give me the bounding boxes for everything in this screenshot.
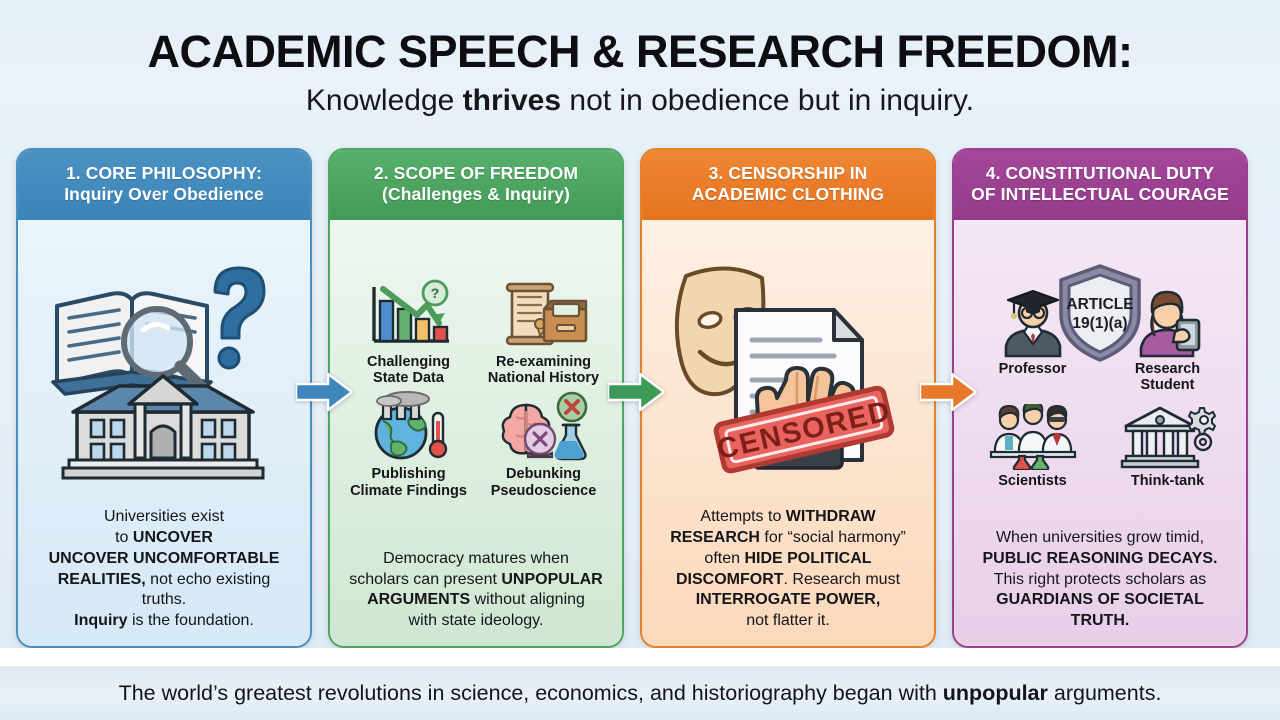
panel-4-line-1: When universities grow timid, xyxy=(966,528,1234,549)
footer-emphasis: unpopular xyxy=(943,681,1048,705)
grid-caption: Re-examining National History xyxy=(488,354,599,388)
caption-line2: State Data xyxy=(367,370,450,387)
footer-text: The world’s greatest revolutions in scie… xyxy=(119,681,1162,706)
panel-1-line-2-bold: UNCOVER xyxy=(133,529,213,546)
panel-1-header: 1. CORE PHILOSOPHY: Inquiry Over Obedien… xyxy=(18,150,310,220)
globe-thermometer-icon xyxy=(361,391,457,463)
caption-line2: Pseudoscience xyxy=(491,483,597,500)
panel-2-title-line1: 2. SCOPE OF FREEDOM xyxy=(338,163,614,184)
panel-1-line-6-tail: is the foundation. xyxy=(128,612,254,629)
panel-3-line-4: DISCOMFORT. Research must xyxy=(654,570,922,591)
panel-censorship[interactable]: 3. CENSORSHIP IN ACADEMIC CLOTHING xyxy=(640,148,936,648)
scroll-archive-box-icon xyxy=(496,279,592,351)
panel-1-line-2: to UNCOVER xyxy=(30,528,298,549)
panel-3-header: 3. CENSORSHIP IN ACADEMIC CLOTHING xyxy=(642,150,934,220)
panel-1-line-2-pre: to xyxy=(115,529,133,546)
panel-2-line-2-pre: scholars can present xyxy=(349,571,501,588)
panel-4-line-4-bold: GUARDIANS OF SOCIETAL xyxy=(996,591,1204,608)
panel-3-line-2-tail: for “social harmony” xyxy=(760,529,906,546)
panel-4-line-3: This right protects scholars as xyxy=(966,570,1234,591)
panel-1-line-5: truths. xyxy=(30,590,298,611)
panel-4-text: When universities grow timid, PUBLIC REA… xyxy=(966,528,1234,632)
panel-1-line-6-bold: Inquiry xyxy=(74,612,127,629)
grid-item-re-examining-national-history[interactable]: Re-examining National History xyxy=(477,279,610,388)
panel-1-title-line2: Inquiry Over Obedience xyxy=(26,184,302,205)
mask-document-hand-censored-illustration: CENSORED xyxy=(658,248,918,488)
article-shield-badge: ARTICLE 19(1)(a) xyxy=(1055,262,1145,369)
panel-2-line-2: scholars can present UNPOPULAR xyxy=(342,570,610,591)
grid-caption: Challenging State Data xyxy=(367,354,450,388)
panel-2-text: Democracy matures when scholars can pres… xyxy=(342,549,610,632)
panel-4-body: ARTICLE 19(1)(a) xyxy=(954,220,1246,646)
caption-line1: Scientists xyxy=(998,473,1067,490)
panel-1-line-1: Universities exist xyxy=(30,507,298,528)
question-mark-icon xyxy=(215,268,264,368)
panel-4-header: 4. CONSTITUTIONAL DUTY OF INTELLECTUAL C… xyxy=(954,150,1246,220)
caption-line1: Re-examining xyxy=(488,354,599,371)
panel-4-line-5: TRUTH. xyxy=(966,611,1234,632)
panel-2-title-line2: (Challenges & Inquiry) xyxy=(338,184,614,205)
panel-2-illustration: ? Challenging State Data xyxy=(342,230,610,549)
panel-3-body: CENSORED Attempts to WITHDRAW RESEARCH f… xyxy=(642,220,934,646)
caption-line2: National History xyxy=(488,370,599,387)
white-separator-band xyxy=(0,648,1280,666)
footer-post: arguments. xyxy=(1048,681,1162,705)
arrow-connector-2 xyxy=(608,372,664,412)
panel-4-title-line1: 4. CONSTITUTIONAL DUTY xyxy=(962,163,1238,184)
smokestacks xyxy=(377,392,429,419)
panel-1-line-3-bold: UNCOVER UNCOMFORTABLE xyxy=(49,550,280,567)
grid-caption: Publishing Climate Findings xyxy=(350,466,467,500)
grid-item-challenging-state-data[interactable]: ? Challenging State Data xyxy=(342,279,475,388)
panel-3-line-2: RESEARCH for “social harmony” xyxy=(654,528,922,549)
panel-2-line-3-bold: ARGUMENTS xyxy=(367,591,470,608)
panel-1-line-4-tail: not echo existing xyxy=(146,571,271,588)
panel-2-body: ? Challenging State Data xyxy=(330,220,622,646)
grid-caption: Scientists xyxy=(998,473,1067,490)
panel-3-illustration: CENSORED xyxy=(654,230,922,508)
subtitle-post: not in obedience but in inquiry. xyxy=(561,84,974,117)
page-title: ACADEMIC SPEECH & RESEARCH FREEDOM: xyxy=(147,28,1132,75)
page-header: ACADEMIC SPEECH & RESEARCH FREEDOM: Know… xyxy=(0,0,1280,140)
panel-2-line-3: ARGUMENTS without aligning xyxy=(342,590,610,611)
panel-3-line-5: INTERROGATE POWER, xyxy=(654,590,922,611)
panel-3-title-line1: 3. CENSORSHIP IN xyxy=(650,163,926,184)
caption-line1: Debunking xyxy=(491,466,597,483)
panel-3-line-4-bold: DISCOMFORT xyxy=(676,571,784,588)
panel-1-line-6: Inquiry is the foundation. xyxy=(30,611,298,632)
panel-3-line-3-bold: HIDE POLITICAL xyxy=(744,550,871,567)
panel-3-line-1-pre: Attempts to xyxy=(700,508,785,525)
caption-line1: Publishing xyxy=(350,466,467,483)
panel-2-icon-grid: ? Challenging State Data xyxy=(342,279,610,500)
panel-constitutional-duty[interactable]: 4. CONSTITUTIONAL DUTY OF INTELLECTUAL C… xyxy=(952,148,1248,648)
caption-line2: Climate Findings xyxy=(350,483,467,500)
panel-3-line-1-bold: WITHDRAW xyxy=(786,508,876,525)
panel-1-text: Universities exist to UNCOVER UNCOVER UN… xyxy=(30,507,298,632)
panel-2-line-4: with state ideology. xyxy=(342,611,610,632)
bar-chart-declining-icon: ? xyxy=(361,279,457,351)
caption-line2: Student xyxy=(1135,377,1200,394)
arrow-connector-1 xyxy=(296,372,352,412)
grid-item-debunking-pseudoscience[interactable]: Debunking Pseudoscience xyxy=(477,391,610,500)
panel-4-line-4: GUARDIANS OF SOCIETAL xyxy=(966,590,1234,611)
panel-4-line-5-bold: TRUTH. xyxy=(1071,612,1130,629)
panel-3-text: Attempts to WITHDRAW RESEARCH for “socia… xyxy=(654,507,922,632)
panel-3-line-2-bold: RESEARCH xyxy=(670,529,760,546)
subtitle-pre: Knowledge xyxy=(306,84,463,117)
shield-line2: 19(1)(a) xyxy=(1072,315,1127,332)
caption-line1: Think-tank xyxy=(1131,473,1204,490)
subtitle-emphasis: thrives xyxy=(463,84,561,117)
think-tank-icon xyxy=(1120,398,1216,470)
grid-item-scientists[interactable]: Scientists xyxy=(966,398,1099,490)
panel-4-line-2-bold: PUBLIC REASONING DECAYS. xyxy=(983,550,1218,567)
panel-4-illustration: ARTICLE 19(1)(a) xyxy=(966,230,1234,528)
panel-3-line-6: not flatter it. xyxy=(654,611,922,632)
arrow-connector-3 xyxy=(920,372,976,412)
panel-2-line-3-tail: without aligning xyxy=(470,591,585,608)
svg-text:?: ? xyxy=(430,285,439,301)
footer-pre: The world’s greatest revolutions in scie… xyxy=(119,681,943,705)
panel-3-line-3-pre: often xyxy=(704,550,744,567)
shield-icon: ARTICLE 19(1)(a) xyxy=(1055,262,1145,364)
panel-3-line-5-bold: INTERROGATE POWER, xyxy=(696,591,881,608)
grid-item-think-tank[interactable]: Think-tank xyxy=(1101,398,1234,490)
shield-line1: ARTICLE xyxy=(1066,296,1133,313)
panel-1-line-3: UNCOVER UNCOMFORTABLE xyxy=(30,549,298,570)
brain-crystal-ball-flask-icon xyxy=(496,391,592,463)
panel-1-line-4: REALITIES, not echo existing xyxy=(30,570,298,591)
caption-line1: Challenging xyxy=(367,354,450,371)
panel-1-body: Universities exist to UNCOVER UNCOVER UN… xyxy=(18,220,310,646)
panel-core-philosophy[interactable]: 1. CORE PHILOSOPHY: Inquiry Over Obedien… xyxy=(16,148,312,648)
panel-2-line-2-bold: UNPOPULAR xyxy=(501,571,602,588)
panel-3-line-4-tail: . Research must xyxy=(784,571,900,588)
panel-4-line-2: PUBLIC REASONING DECAYS. xyxy=(966,549,1234,570)
panel-1-line-4-bold: REALITIES, xyxy=(58,571,146,588)
panel-3-line-1: Attempts to WITHDRAW xyxy=(654,507,922,528)
panel-1-title-line1: 1. CORE PHILOSOPHY: xyxy=(26,163,302,184)
panel-4-icon-grid: ARTICLE 19(1)(a) xyxy=(966,268,1234,490)
scientists-group-icon xyxy=(985,398,1081,470)
panel-2-line-1: Democracy matures when xyxy=(342,549,610,570)
panel-2-header: 2. SCOPE OF FREEDOM (Challenges & Inquir… xyxy=(330,150,622,220)
panel-3-line-3: often HIDE POLITICAL xyxy=(654,549,922,570)
panel-1-illustration xyxy=(30,230,298,508)
panel-4-title-line2: OF INTELLECTUAL COURAGE xyxy=(962,184,1238,205)
grid-caption: Debunking Pseudoscience xyxy=(491,466,597,500)
page-footer: The world’s greatest revolutions in scie… xyxy=(0,666,1280,720)
grid-caption: Think-tank xyxy=(1131,473,1204,490)
grid-item-publishing-climate-findings[interactable]: Publishing Climate Findings xyxy=(342,391,475,500)
book-magnifier-university-illustration xyxy=(39,254,289,482)
panel-scope-of-freedom[interactable]: 2. SCOPE OF FREEDOM (Challenges & Inquir… xyxy=(328,148,624,648)
page-subtitle: Knowledge thrives not in obedience but i… xyxy=(306,84,974,118)
panel-3-title-line2: ACADEMIC CLOTHING xyxy=(650,184,926,205)
